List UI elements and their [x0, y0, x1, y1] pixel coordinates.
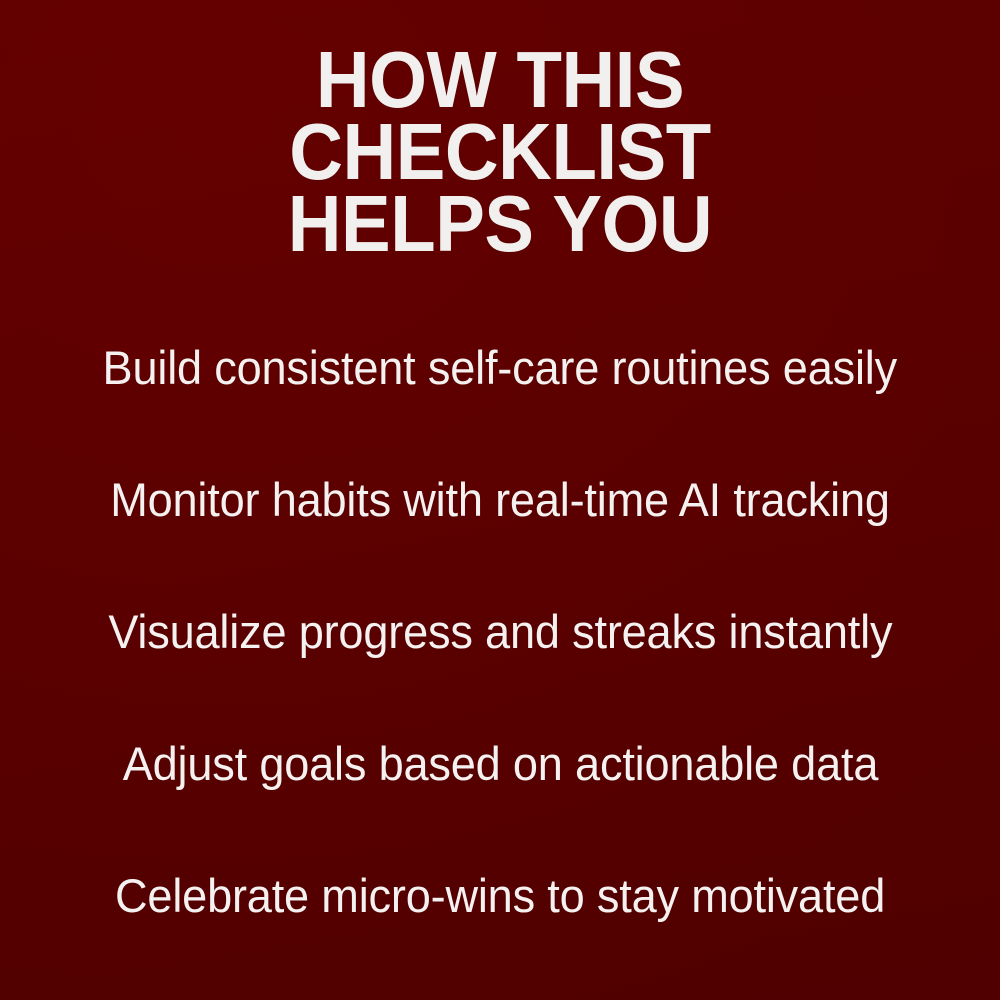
headline-line-3: HELPS YOU [72, 188, 928, 260]
benefit-text-3: Visualize progress and streaks instantly [108, 604, 892, 660]
benefit-list: Build consistent self-care routines easi… [0, 302, 1000, 962]
benefit-text-4: Adjust goals based on actionable data [122, 736, 877, 792]
benefit-text-2: Monitor habits with real-time AI trackin… [110, 472, 890, 528]
slide-canvas: HOW THIS CHECKLIST HELPS YOU Build consi… [0, 0, 1000, 1000]
page-title: HOW THIS CHECKLIST HELPS YOU [0, 44, 1000, 260]
benefit-text-5: Celebrate micro-wins to stay motivated [115, 868, 885, 924]
benefit-text-1: Build consistent self-care routines easi… [103, 340, 897, 396]
headline-line-1: HOW THIS [72, 44, 928, 116]
list-item: Adjust goals based on actionable data [60, 698, 940, 830]
list-item: Celebrate micro-wins to stay motivated [60, 830, 940, 962]
list-item: Visualize progress and streaks instantly [60, 566, 940, 698]
list-item: Build consistent self-care routines easi… [60, 302, 940, 434]
list-item: Monitor habits with real-time AI trackin… [60, 434, 940, 566]
headline-line-2: CHECKLIST [72, 116, 928, 188]
